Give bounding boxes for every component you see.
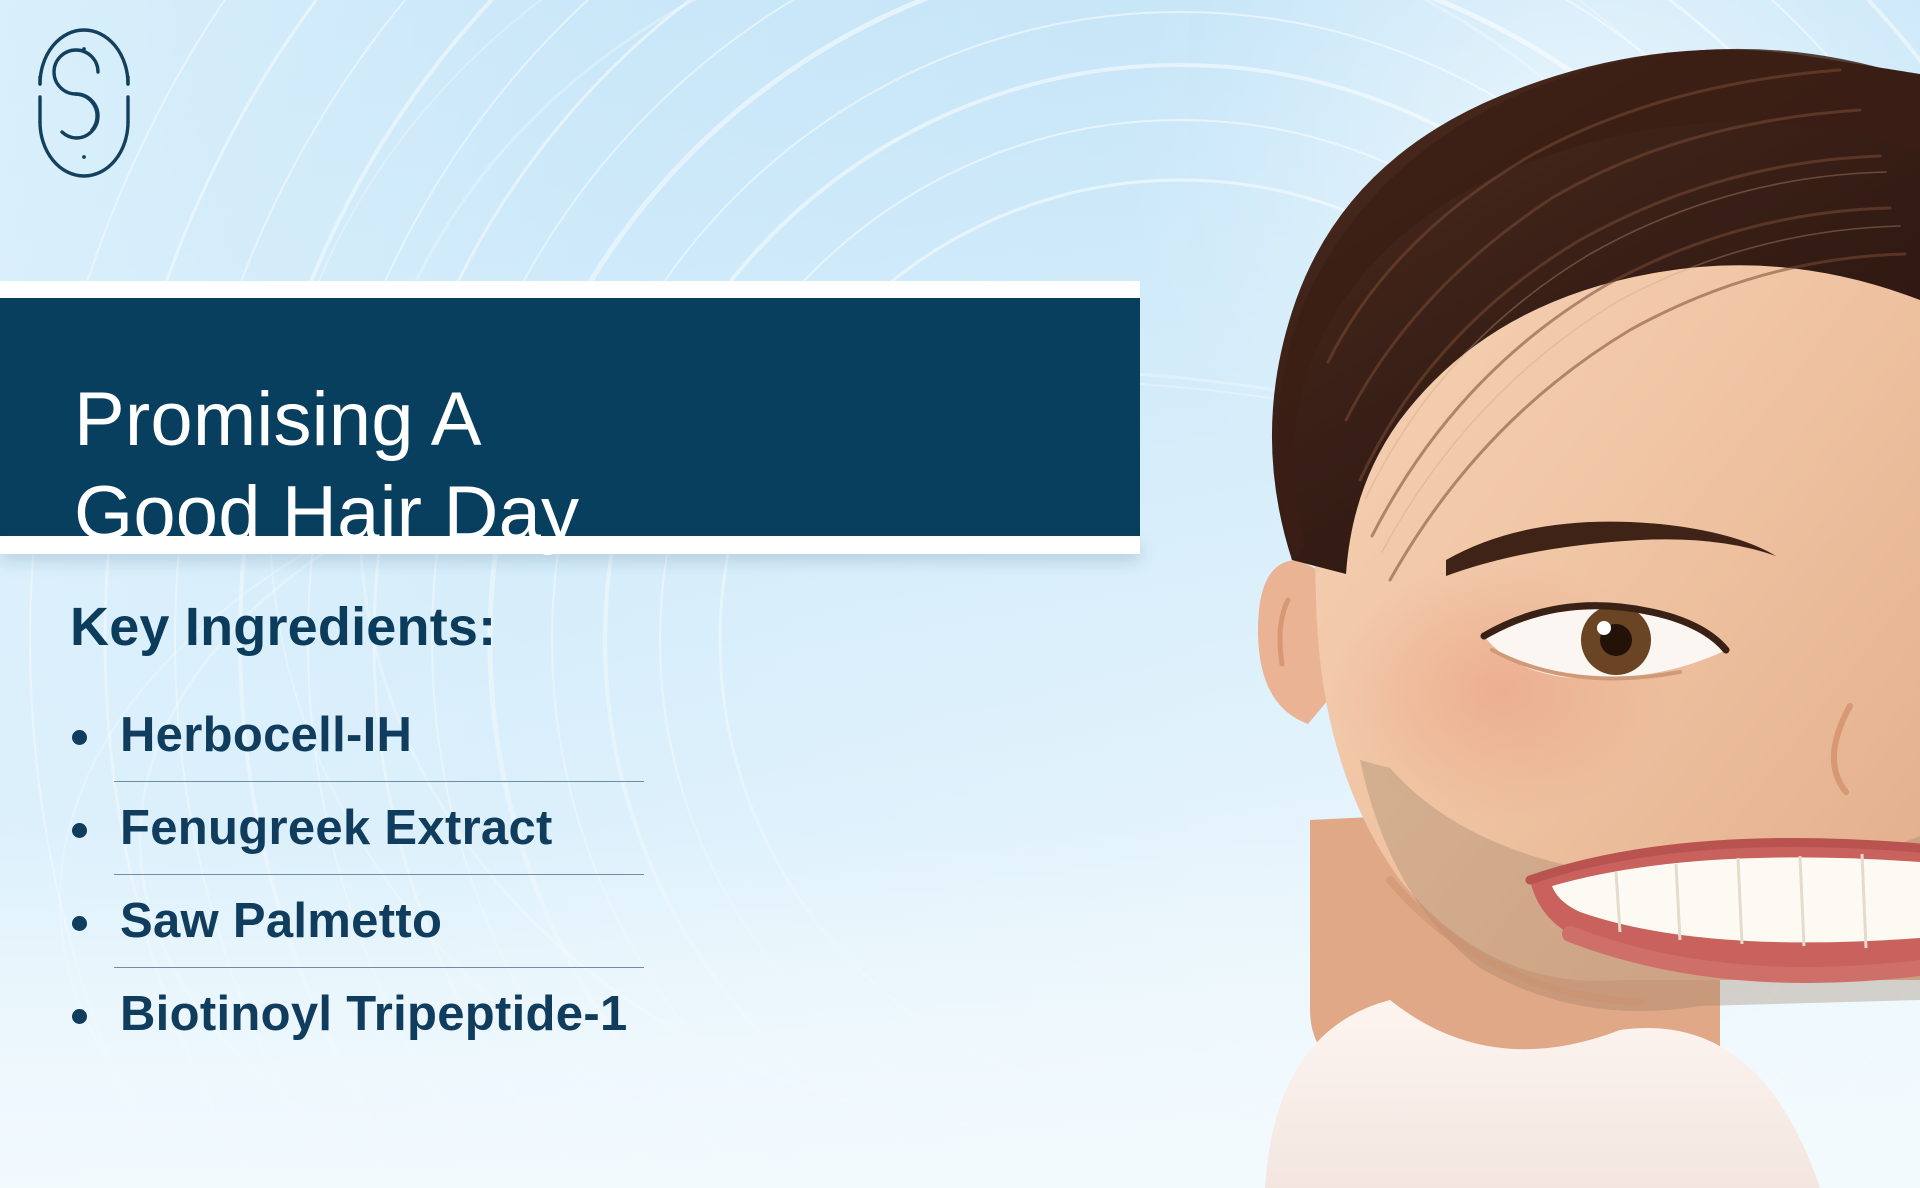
ingredient-label: Saw Palmetto <box>120 894 442 948</box>
list-divider <box>114 874 644 875</box>
brand-logo <box>32 22 136 184</box>
portrait-illustration <box>1060 0 1920 1188</box>
bullet-icon <box>72 916 87 931</box>
list-item: Fenugreek Extract <box>70 799 830 857</box>
ingredient-label: Fenugreek Extract <box>120 801 553 855</box>
logo-dot-top <box>82 47 86 51</box>
key-ingredients-heading: Key Ingredients: <box>70 596 830 658</box>
promotional-poster: Promising A Good Hair Day Key Ingredient… <box>0 0 1920 1188</box>
ingredient-label: Herbocell-IH <box>120 708 412 762</box>
bullet-icon <box>72 1009 87 1024</box>
ingredient-label: Biotinoyl Tripeptide-1 <box>120 987 628 1041</box>
logo-dot-bottom <box>82 155 86 159</box>
list-divider <box>114 781 644 782</box>
bullet-icon <box>72 730 87 745</box>
key-ingredients-list: Herbocell-IH Fenugreek Extract Saw Palme… <box>70 706 830 1043</box>
oval-monogram-s-logo-icon <box>32 22 136 184</box>
page-title: Promising A Good Hair Day <box>74 373 974 561</box>
list-item: Herbocell-IH <box>70 706 830 764</box>
model-portrait-photo <box>1060 0 1920 1188</box>
list-divider <box>114 967 644 968</box>
bullet-icon <box>72 823 87 838</box>
list-item: Saw Palmetto <box>70 892 830 950</box>
key-ingredients-section: Key Ingredients: Herbocell-IH Fenugreek … <box>70 596 830 1043</box>
list-item: Biotinoyl Tripeptide-1 <box>70 985 830 1043</box>
banner-top-rule <box>0 281 1140 298</box>
